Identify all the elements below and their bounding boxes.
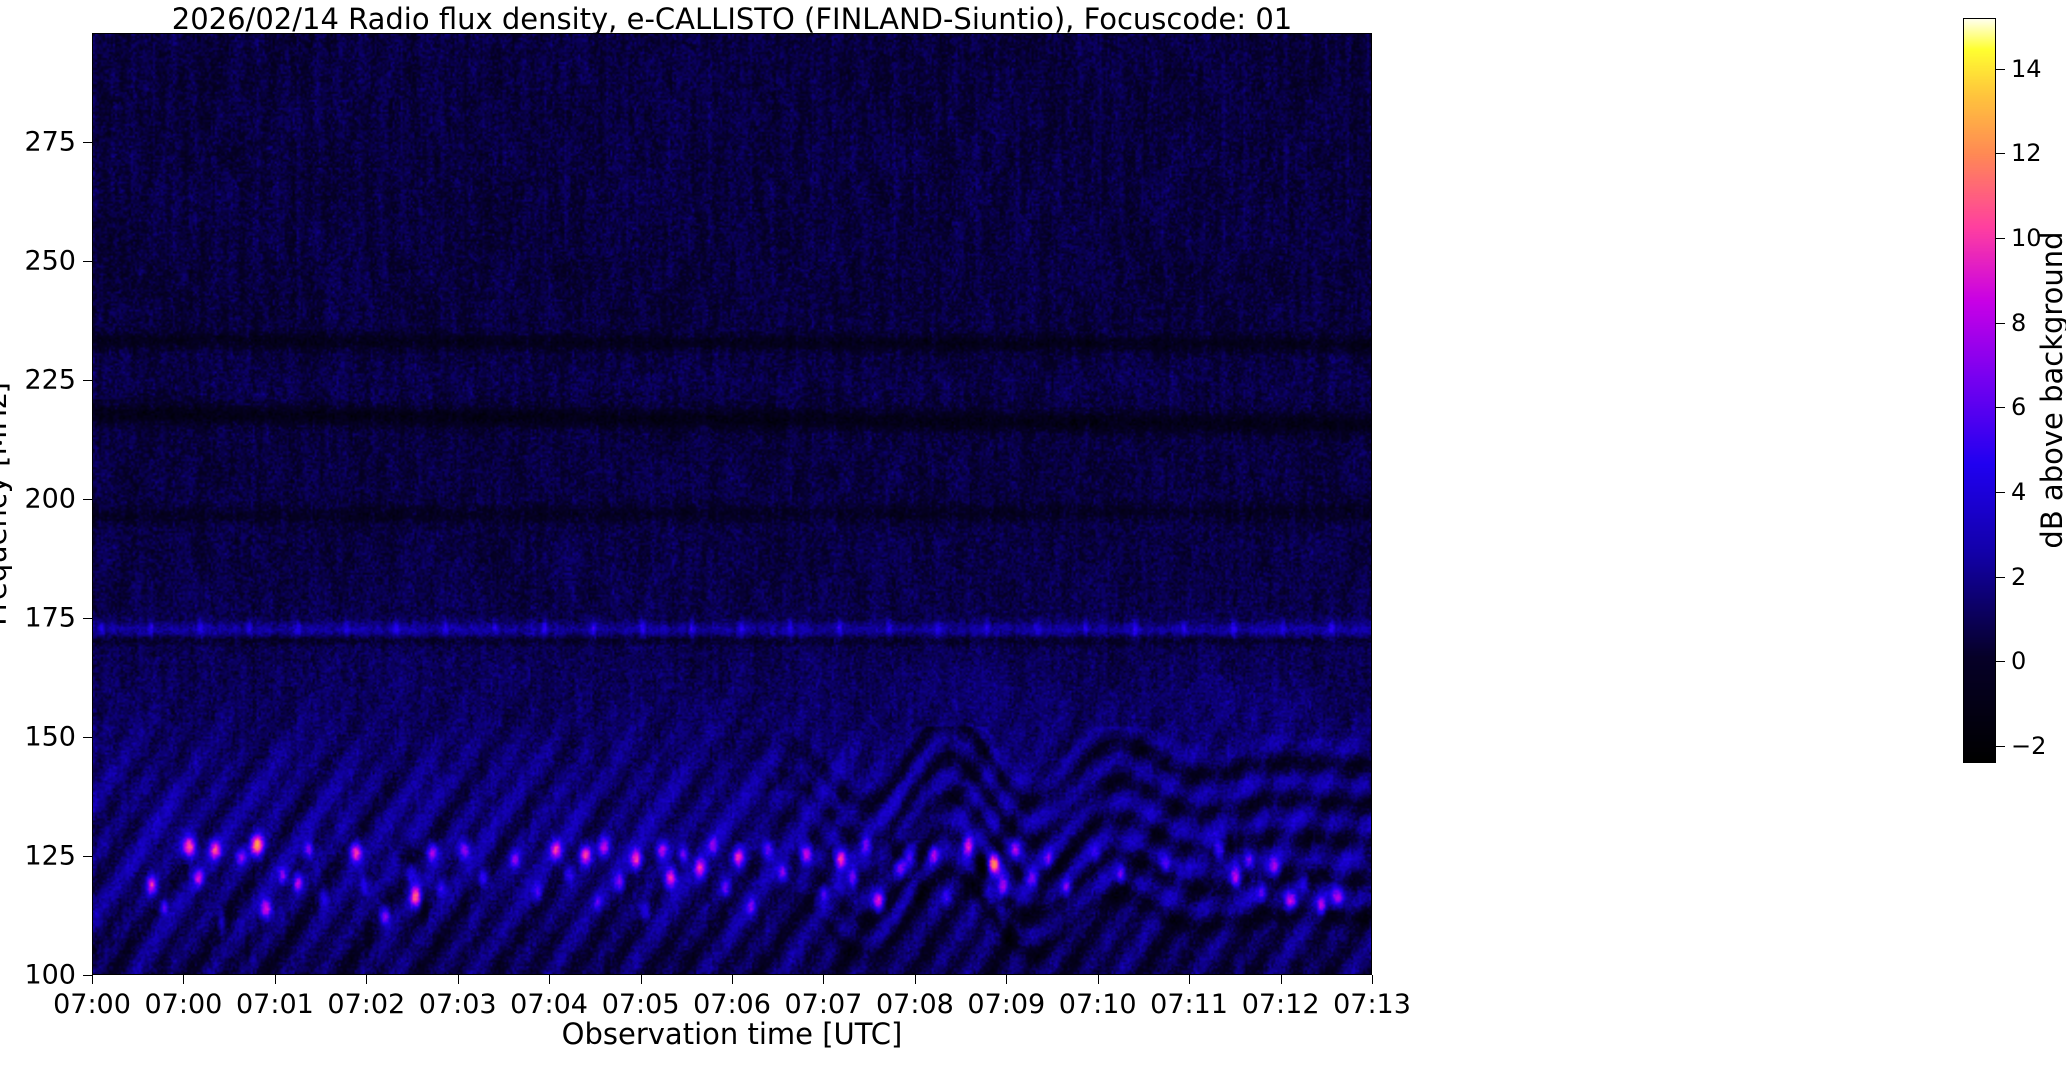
colorbar-tick-label: 6 [2011,393,2026,421]
spectrogram-image [93,34,1371,974]
x-axis-tick-label: 07:00 [53,989,131,1020]
colorbar-tick-label: −2 [2011,732,2046,760]
colorbar-tick [1996,407,2005,408]
x-axis-tick-label: 07:02 [327,989,405,1020]
y-axis-tick [83,499,92,500]
colorbar-tick [1996,577,2005,578]
x-axis-tick [458,975,459,984]
x-axis-title: Observation time [UTC] [92,1017,1372,1051]
x-axis-tick [1006,975,1007,984]
y-axis-tick-label: 175 [0,603,76,634]
colorbar-tick [1996,153,2005,154]
x-axis-tick [275,975,276,984]
colorbar-tick-label: 4 [2011,478,2026,506]
colorbar-tick [1996,746,2005,747]
x-axis-tick-label: 07:03 [419,989,497,1020]
x-axis-tick [1189,975,1190,984]
y-axis-tick-label: 150 [0,722,76,753]
y-axis-tick [83,142,92,143]
x-axis-tick [366,975,367,984]
colorbar-tick-label: 2 [2011,563,2026,591]
spectrogram-plot-area[interactable] [92,33,1372,975]
y-axis-tick [83,856,92,857]
y-axis-tick-label: 275 [0,127,76,158]
colorbar-tick-label: 8 [2011,309,2026,337]
colorbar-tick [1996,238,2005,239]
page-title: 2026/02/14 Radio flux density, e-CALLIST… [92,3,1372,35]
x-axis-tick-label: 07:11 [1150,989,1228,1020]
x-axis-tick [1281,975,1282,984]
y-axis-tick-label: 125 [0,841,76,872]
colorbar[interactable] [1963,18,1996,763]
x-axis-tick-label: 07:01 [236,989,314,1020]
x-axis-tick [641,975,642,984]
colorbar-tick [1996,69,2005,70]
x-axis-tick-label: 07:00 [144,989,222,1020]
colorbar-tick [1996,492,2005,493]
x-axis-tick-label: 07:06 [693,989,771,1020]
y-axis-tick [83,737,92,738]
x-axis-tick [732,975,733,984]
y-axis-tick [83,618,92,619]
x-axis-tick [1098,975,1099,984]
x-axis-tick-label: 07:08 [876,989,954,1020]
colorbar-tick-label: 10 [2011,224,2042,252]
colorbar-tick-label: 12 [2011,139,2042,167]
colorbar-title: dB above background [2035,231,2066,548]
x-axis-tick [92,975,93,984]
y-axis-tick [83,975,92,976]
x-axis-tick [915,975,916,984]
x-axis-tick-label: 07:10 [1059,989,1137,1020]
x-axis-tick-label: 07:13 [1333,989,1411,1020]
x-axis-tick-label: 07:04 [510,989,588,1020]
y-axis-tick [83,380,92,381]
x-axis-tick-label: 07:07 [784,989,862,1020]
y-axis-tick-label: 225 [0,365,76,396]
figure-canvas: 2026/02/14 Radio flux density, e-CALLIST… [0,0,2066,1067]
x-axis-tick-label: 07:05 [602,989,680,1020]
y-axis-tick-label: 100 [0,960,76,991]
y-axis-tick-label: 250 [0,246,76,277]
x-axis-tick [549,975,550,984]
colorbar-tick-label: 14 [2011,55,2042,83]
colorbar-tick [1996,323,2005,324]
x-axis-tick-label: 07:09 [967,989,1045,1020]
colorbar-tick [1996,661,2005,662]
x-axis-tick [1372,975,1373,984]
y-axis-tick [83,261,92,262]
x-axis-tick [823,975,824,984]
colorbar-gradient [1964,19,1995,762]
colorbar-tick-label: 0 [2011,647,2026,675]
x-axis-tick-label: 07:12 [1242,989,1320,1020]
x-axis-tick [183,975,184,984]
y-axis-tick-label: 200 [0,484,76,515]
